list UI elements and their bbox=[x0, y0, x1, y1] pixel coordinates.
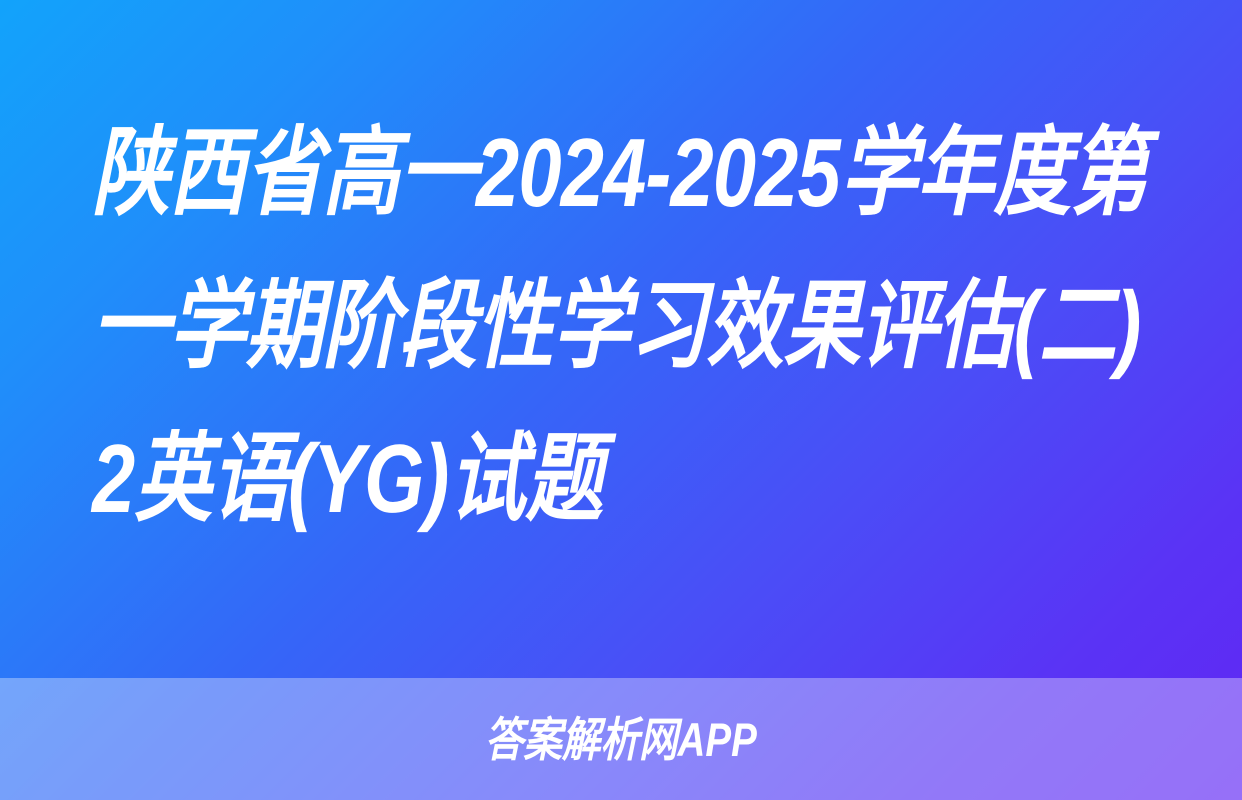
page-title: 陕西省高一2024-2025学年度第一学期阶段性学习效果评估(二)2英语(YG)… bbox=[92, 96, 1150, 555]
headline-container: 陕西省高一2024-2025学年度第一学期阶段性学习效果评估(二)2英语(YG)… bbox=[92, 96, 1150, 555]
brand-label: 答案解析网APP bbox=[485, 716, 757, 763]
footer-brand-bar: 答案解析网APP bbox=[0, 678, 1242, 800]
poster-canvas: 陕西省高一2024-2025学年度第一学期阶段性学习效果评估(二)2英语(YG)… bbox=[0, 0, 1242, 800]
